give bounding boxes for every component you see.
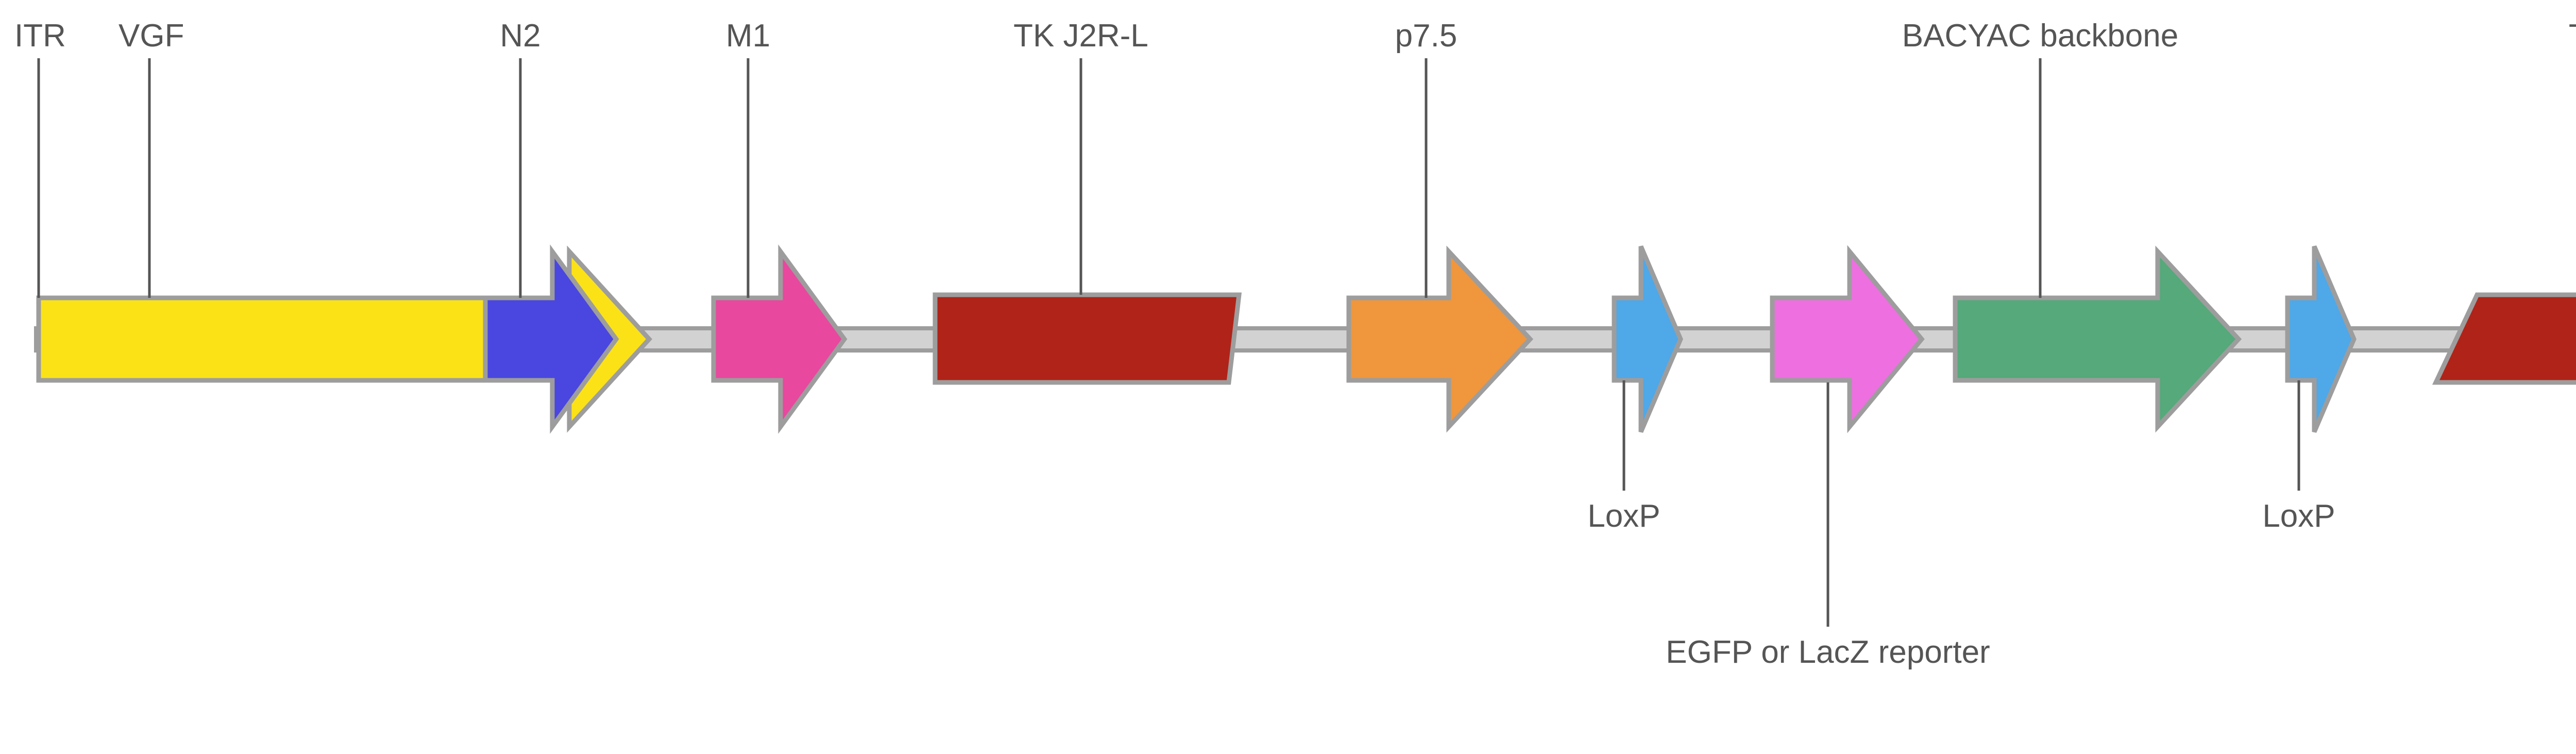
feature-label-loxp-left: LoxP <box>1587 498 1660 534</box>
feature-label-vgf-left: VGF <box>118 18 184 54</box>
feature-shape-m1[interactable] <box>714 252 844 427</box>
construct-diagram: ITR VGF N2 M1 TK J2R-L p7.5 BACYAC backb… <box>0 0 2576 754</box>
feature-label-p7-5: p7.5 <box>1395 18 1458 54</box>
feature-shape-tk-j2r-r[interactable] <box>2436 295 2576 382</box>
feature-label-n2: N2 <box>500 18 540 54</box>
feature-shape-p7-5[interactable] <box>1349 252 1530 427</box>
feature-shape-tk-j2r-l[interactable] <box>935 295 1239 382</box>
feature-label-bacyac-backbone: BACYAC backbone <box>1902 18 2178 54</box>
feature-label-loxp-right: LoxP <box>2262 498 2335 534</box>
feature-label-tk-j2r-l: TK J2R-L <box>1013 18 1148 54</box>
feature-shape-bacyac-backbone[interactable] <box>1955 252 2239 427</box>
feature-shape-n2[interactable] <box>485 252 616 427</box>
feature-label-egfp-lacz-reporter: EGFP or LacZ reporter <box>1666 634 1990 670</box>
genomic-map-canvas: ITR VGF N2 M1 TK J2R-L p7.5 BACYAC backb… <box>0 0 2576 754</box>
feature-label-itr-left: ITR <box>14 18 66 54</box>
feature-shape-loxp-right[interactable] <box>2287 246 2354 432</box>
feature-label-tk-j2r-r: TK J2R-R <box>2569 18 2576 54</box>
feature-shape-egfp-lacz-reporter[interactable] <box>1772 252 1922 427</box>
feature-label-m1: M1 <box>726 18 770 54</box>
